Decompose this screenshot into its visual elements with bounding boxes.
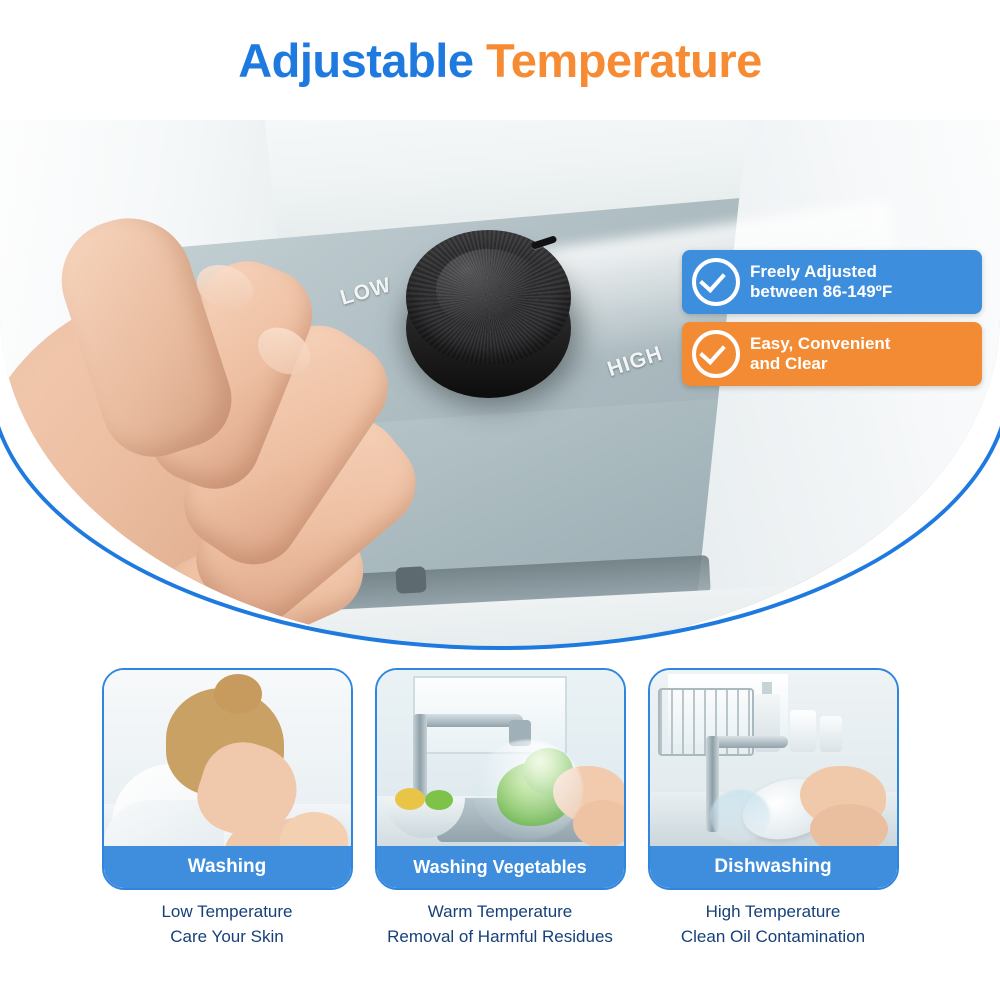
use-case-card-washing: Washing Low Temperature Care Your Skin [104, 668, 351, 1000]
callout-line1: Easy, Convenient [750, 334, 890, 354]
page-title-primary: Adjustable [238, 34, 473, 87]
check-circle-icon [692, 258, 740, 306]
card-desc-line1: Warm Temperature [387, 900, 613, 925]
card-desc-line2: Care Your Skin [161, 925, 292, 950]
card-thumbnail: Washing [102, 668, 353, 890]
callout-freely-adjusted: Freely Adjusted between 86-149ºF [682, 250, 982, 314]
card-desc-line2: Removal of Harmful Residues [387, 925, 613, 950]
card-desc-line2: Clean Oil Contamination [681, 925, 865, 950]
card-desc-line1: Low Temperature [161, 900, 292, 925]
card-thumbnail: Washing Vegetables [375, 668, 626, 890]
card-caption: Washing Vegetables [377, 846, 624, 888]
hand-photo [0, 170, 520, 650]
card-thumbnail: Dishwashing [648, 668, 899, 890]
use-case-cards: Washing Low Temperature Care Your Skin [0, 668, 1000, 1000]
use-case-card-washing-vegetables: Washing Vegetables Warm Temperature Remo… [377, 668, 624, 1000]
card-desc-line1: High Temperature [681, 900, 865, 925]
card-caption: Dishwashing [650, 846, 897, 888]
page-title-accent: Temperature [486, 34, 762, 87]
use-case-card-dishwashing: Dishwashing High Temperature Clean Oil C… [650, 668, 897, 1000]
callout-easy-convenient: Easy, Convenient and Clear [682, 322, 982, 386]
callout-line2: and Clear [750, 354, 890, 374]
page-title: Adjustable Temperature [0, 0, 1000, 120]
card-caption: Washing [104, 846, 351, 888]
feature-callouts: Freely Adjusted between 86-149ºF Easy, C… [682, 250, 982, 394]
callout-line2: between 86-149ºF [750, 282, 892, 302]
check-circle-icon [692, 330, 740, 378]
callout-line1: Freely Adjusted [750, 262, 892, 282]
